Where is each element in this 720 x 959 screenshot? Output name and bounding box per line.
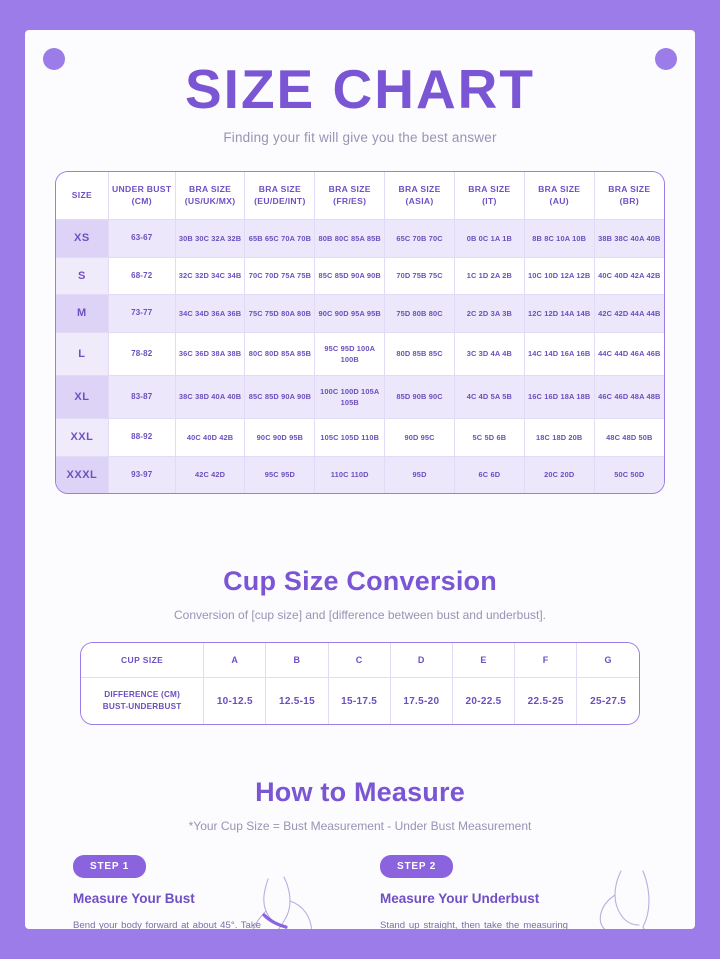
size-table-underbust-cell: 78-82 — [108, 332, 175, 375]
size-table-cell: 40C 40D 42B — [175, 419, 245, 457]
size-table-cell: 14C 14D 16A 16B — [524, 332, 594, 375]
size-table-cell: 75D 80B 80C — [385, 295, 455, 333]
size-table-cell: 2C 2D 3A 3B — [454, 295, 524, 333]
size-table-cell: 34C 34D 36A 36B — [175, 295, 245, 333]
cup-table-col-header: F — [515, 643, 577, 678]
cup-table-cell: 17.5-20 — [390, 678, 452, 724]
size-table-size-cell: M — [56, 295, 108, 333]
cup-table-header-row: CUP SIZEABCDEFG — [81, 643, 639, 678]
size-table-col-header: BRA SIZE(EU/DE/INT) — [245, 172, 315, 220]
size-table-cell: 6C 6D — [454, 456, 524, 493]
size-table-cell: 32C 32D 34C 34B — [175, 257, 245, 295]
size-table-cell: 20C 20D — [524, 456, 594, 493]
size-table-row: S68-7232C 32D 34C 34B70C 70D 75A 75B85C … — [56, 257, 664, 295]
measure-section-title: How to Measure — [25, 777, 695, 808]
size-table-cell: 65B 65C 70A 70B — [245, 220, 315, 258]
size-table-underbust-cell: 88-92 — [108, 419, 175, 457]
size-table-cell: 8B 8C 10A 10B — [524, 220, 594, 258]
size-table-cell: 10C 10D 12A 12B — [524, 257, 594, 295]
size-table-cell: 95C 95D 100A 100B — [315, 332, 385, 375]
size-table-cell: 85D 90B 90C — [385, 375, 455, 418]
size-table-row: XXXL93-9742C 42D95C 95D110C 110D95D6C 6D… — [56, 456, 664, 493]
size-table-cell: 16C 16D 18A 18B — [524, 375, 594, 418]
poster-sheet: SIZE CHART Finding your fit will give yo… — [25, 30, 695, 929]
underbust-measurement-illustration-icon: 90° — [547, 869, 677, 929]
size-table-cell: 44C 44D 46A 46B — [594, 332, 664, 375]
size-table-underbust-cell: 63-67 — [108, 220, 175, 258]
size-table-cell: 70D 75B 75C — [385, 257, 455, 295]
step-2-body: Stand up straight, then take the measuri… — [380, 917, 568, 929]
size-table-header-row: SIZEUNDER BUST(CM)BRA SIZE(US/UK/MX)BRA … — [56, 172, 664, 220]
cup-table-cell: 12.5-15 — [266, 678, 328, 724]
size-table-body: XS63-6730B 30C 32A 32B65B 65C 70A 70B80B… — [56, 220, 664, 493]
size-table-col-header: BRA SIZE(US/UK/MX) — [175, 172, 245, 220]
size-table-cell: 38C 38D 40A 40B — [175, 375, 245, 418]
size-table-col-header: UNDER BUST(CM) — [108, 172, 175, 220]
cup-table-row-label: DIFFERENCE (CM)BUST-UNDERBUST — [81, 678, 204, 724]
size-table-cell: 80C 80D 85A 85B — [245, 332, 315, 375]
size-table-size-cell: L — [56, 332, 108, 375]
size-table-cell: 36C 36D 38A 38B — [175, 332, 245, 375]
measure-step-1: STEP 1 Measure Your Bust Bend your body … — [73, 855, 340, 929]
size-table-col-header: SIZE — [56, 172, 108, 220]
cup-table-col-header: G — [577, 643, 639, 678]
size-table-col-header: BRA SIZE(IT) — [454, 172, 524, 220]
size-table-size-cell: XXXL — [56, 456, 108, 493]
size-table-col-header: BRA SIZE(FR/ES) — [315, 172, 385, 220]
size-table-cell: 90C 90D 95A 95B — [315, 295, 385, 333]
size-table-cell: 4C 4D 5A 5B — [454, 375, 524, 418]
size-table-cell: 48C 48D 50B — [594, 419, 664, 457]
measure-steps: STEP 1 Measure Your Bust Bend your body … — [73, 855, 647, 929]
size-table-cell: 100C 100D 105A 105B — [315, 375, 385, 418]
size-table-cell: 110C 110D — [315, 456, 385, 493]
size-table-cell: 5C 5D 6B — [454, 419, 524, 457]
size-chart-table-container: SIZEUNDER BUST(CM)BRA SIZE(US/UK/MX)BRA … — [55, 171, 665, 494]
size-table-underbust-cell: 68-72 — [108, 257, 175, 295]
size-table-cell: 18C 18D 20B — [524, 419, 594, 457]
size-table-cell: 95D — [385, 456, 455, 493]
cup-section-subtitle: Conversion of [cup size] and [difference… — [25, 608, 695, 622]
size-table-col-header: BRA SIZE(ASIA) — [385, 172, 455, 220]
size-table-size-cell: XS — [56, 220, 108, 258]
size-table-cell: 80D 85B 85C — [385, 332, 455, 375]
size-table-cell: 3C 3D 4A 4B — [454, 332, 524, 375]
cup-table-col-header: E — [452, 643, 514, 678]
step-2-badge: STEP 2 — [380, 855, 453, 878]
measure-section-subtitle: *Your Cup Size = Bust Measurement - Unde… — [25, 819, 695, 833]
size-table-cell: 90D 95C — [385, 419, 455, 457]
size-table-cell: 30B 30C 32A 32B — [175, 220, 245, 258]
size-table-cell: 70C 70D 75A 75B — [245, 257, 315, 295]
cup-size-table-container: CUP SIZEABCDEFG DIFFERENCE (CM)BUST-UNDE… — [80, 642, 640, 725]
cup-table-cell: 25-27.5 — [577, 678, 639, 724]
size-table-cell: 65C 70B 70C — [385, 220, 455, 258]
size-table-cell: 46C 46D 48A 48B — [594, 375, 664, 418]
cup-table-cell: 15-17.5 — [328, 678, 390, 724]
size-table-size-cell: S — [56, 257, 108, 295]
size-table-size-cell: XL — [56, 375, 108, 418]
decorative-dot-right — [655, 48, 677, 70]
size-table-cell: 1C 1D 2A 2B — [454, 257, 524, 295]
step-1-badge: STEP 1 — [73, 855, 146, 878]
size-table-cell: 85C 85D 90A 90B — [315, 257, 385, 295]
size-table-cell: 75C 75D 80A 80B — [245, 295, 315, 333]
size-table-underbust-cell: 83-87 — [108, 375, 175, 418]
size-table-underbust-cell: 73-77 — [108, 295, 175, 333]
cup-section-title: Cup Size Conversion — [25, 566, 695, 597]
size-table-cell: 42C 42D — [175, 456, 245, 493]
size-table-cell: 38B 38C 40A 40B — [594, 220, 664, 258]
size-table-cell: 80B 80C 85A 85B — [315, 220, 385, 258]
size-table-row: L78-8236C 36D 38A 38B80C 80D 85A 85B95C … — [56, 332, 664, 375]
size-table-cell: 50C 50D — [594, 456, 664, 493]
size-table-cell: 42C 42D 44A 44B — [594, 295, 664, 333]
decorative-dot-left — [43, 48, 65, 70]
size-table-cell: 40C 40D 42A 42B — [594, 257, 664, 295]
cup-table-col-header: A — [204, 643, 266, 678]
measure-step-2: STEP 2 Measure Your Underbust Stand up s… — [380, 855, 647, 929]
size-table-cell: 12C 12D 14A 14B — [524, 295, 594, 333]
cup-table-col-header: D — [390, 643, 452, 678]
size-table-cell: 0B 0C 1A 1B — [454, 220, 524, 258]
size-table-cell: 105C 105D 110B — [315, 419, 385, 457]
cup-table-cell: 22.5-25 — [515, 678, 577, 724]
size-table-row: XS63-6730B 30C 32A 32B65B 65C 70A 70B80B… — [56, 220, 664, 258]
size-chart-table: SIZEUNDER BUST(CM)BRA SIZE(US/UK/MX)BRA … — [56, 172, 664, 493]
size-table-cell: 95C 95D — [245, 456, 315, 493]
page-subtitle: Finding your fit will give you the best … — [25, 130, 695, 145]
size-table-cell: 90C 90D 95B — [245, 419, 315, 457]
size-table-cell: 85C 85D 90A 90B — [245, 375, 315, 418]
cup-table-col-header: C — [328, 643, 390, 678]
cup-table-corner-header: CUP SIZE — [81, 643, 204, 678]
size-table-underbust-cell: 93-97 — [108, 456, 175, 493]
size-table-col-header: BRA SIZE(AU) — [524, 172, 594, 220]
cup-table-row: DIFFERENCE (CM)BUST-UNDERBUST10-12.512.5… — [81, 678, 639, 724]
bust-measurement-illustration-icon: 45° — [238, 875, 356, 929]
size-table-row: M73-7734C 34D 36A 36B75C 75D 80A 80B90C … — [56, 295, 664, 333]
step-1-body: Bend your body forward at about 45°. Tak… — [73, 917, 261, 929]
size-table-col-header: BRA SIZE(BR) — [594, 172, 664, 220]
cup-table-cell: 20-22.5 — [452, 678, 514, 724]
size-table-row: XL83-8738C 38D 40A 40B85C 85D 90A 90B100… — [56, 375, 664, 418]
cup-table-col-header: B — [266, 643, 328, 678]
poster-frame: SIZE CHART Finding your fit will give yo… — [0, 0, 720, 959]
size-table-row: XXL88-9240C 40D 42B90C 90D 95B105C 105D … — [56, 419, 664, 457]
size-table-size-cell: XXL — [56, 419, 108, 457]
page-title: SIZE CHART — [25, 62, 695, 117]
cup-table-cell: 10-12.5 — [204, 678, 266, 724]
cup-size-table: CUP SIZEABCDEFG DIFFERENCE (CM)BUST-UNDE… — [81, 643, 639, 724]
